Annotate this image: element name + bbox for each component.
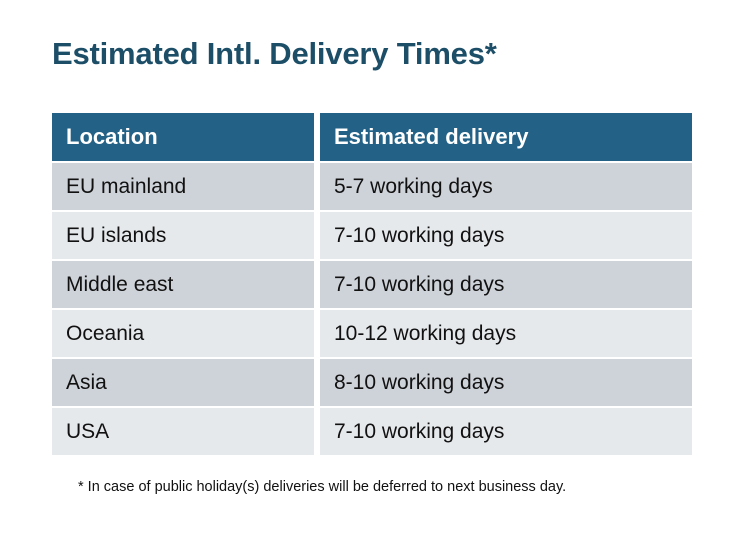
page-title: Estimated Intl. Delivery Times*: [52, 36, 497, 72]
table-row: USA 7-10 working days: [52, 408, 692, 455]
delivery-times-table: Location Estimated delivery EU mainland …: [52, 113, 692, 457]
delivery-times-page: Estimated Intl. Delivery Times* Location…: [0, 0, 745, 536]
table-row: EU mainland 5-7 working days: [52, 163, 692, 210]
cell-location: Middle east: [52, 261, 314, 308]
cell-estimated-delivery: 8-10 working days: [320, 359, 692, 406]
table-row: EU islands 7-10 working days: [52, 212, 692, 259]
table-row: Asia 8-10 working days: [52, 359, 692, 406]
table-row: Oceania 10-12 working days: [52, 310, 692, 357]
cell-location: Asia: [52, 359, 314, 406]
cell-estimated-delivery: 7-10 working days: [320, 212, 692, 259]
cell-location: Oceania: [52, 310, 314, 357]
footnote: * In case of public holiday(s) deliverie…: [78, 479, 566, 495]
cell-location: EU islands: [52, 212, 314, 259]
cell-estimated-delivery: 5-7 working days: [320, 163, 692, 210]
cell-location: EU mainland: [52, 163, 314, 210]
cell-location: USA: [52, 408, 314, 455]
cell-estimated-delivery: 7-10 working days: [320, 408, 692, 455]
table-header-row: Location Estimated delivery: [52, 113, 692, 161]
cell-estimated-delivery: 7-10 working days: [320, 261, 692, 308]
column-header-estimated-delivery: Estimated delivery: [320, 113, 692, 161]
cell-estimated-delivery: 10-12 working days: [320, 310, 692, 357]
column-header-location: Location: [52, 113, 314, 161]
table-row: Middle east 7-10 working days: [52, 261, 692, 308]
